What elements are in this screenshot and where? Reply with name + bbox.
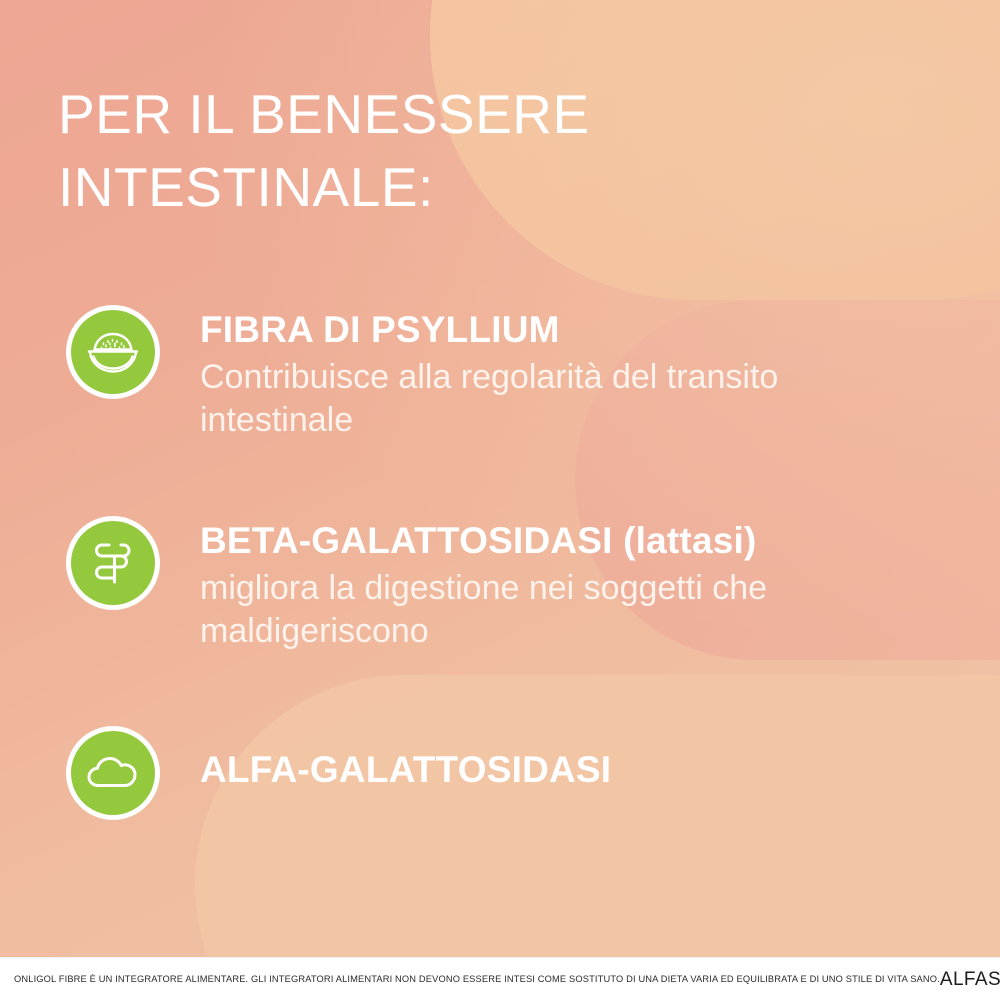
benefit-title: FIBRA DI PSYLLIUM (200, 308, 890, 352)
benefit-description: Contribuisce alla regolarità del transit… (200, 356, 890, 443)
benefit-badge-3 (66, 726, 160, 820)
alfasigma-logo: ALFASIGMA (940, 970, 1000, 989)
brand-name: ALFASIGMA (940, 970, 1000, 989)
bowl-of-fiber-icon (71, 310, 155, 394)
benefit-badge-1 (66, 305, 160, 399)
benefit-title: ALFA-GALATTOSIDASI (200, 748, 611, 792)
footer-bar: ONLIGOL FIBRE È UN INTEGRATORE ALIMENTAR… (0, 957, 1000, 1000)
benefit-text-3: ALFA-GALATTOSIDASI (160, 726, 611, 792)
cloud-icon (71, 731, 155, 815)
page-title: PER IL BENESSERE INTESTINALE: (58, 78, 738, 223)
list-item: FIBRA DI PSYLLIUM Contribuisce alla rego… (66, 305, 890, 443)
benefit-text-2: BETA-GALATTOSIDASI (lattasi) migliora la… (160, 516, 890, 654)
list-item: BETA-GALATTOSIDASI (lattasi) migliora la… (66, 516, 890, 654)
legal-disclaimer: ONLIGOL FIBRE È UN INTEGRATORE ALIMENTAR… (0, 974, 940, 984)
benefit-badge-2 (66, 516, 160, 610)
intestine-icon (71, 521, 155, 605)
benefit-title: BETA-GALATTOSIDASI (lattasi) (200, 519, 890, 563)
benefit-text-1: FIBRA DI PSYLLIUM Contribuisce alla rego… (160, 305, 890, 443)
promotional-poster: PER IL BENESSERE INTESTINALE: (0, 0, 1000, 1000)
list-item: ALFA-GALATTOSIDASI (66, 726, 611, 820)
benefit-description: migliora la digestione nei soggetti che … (200, 567, 890, 654)
